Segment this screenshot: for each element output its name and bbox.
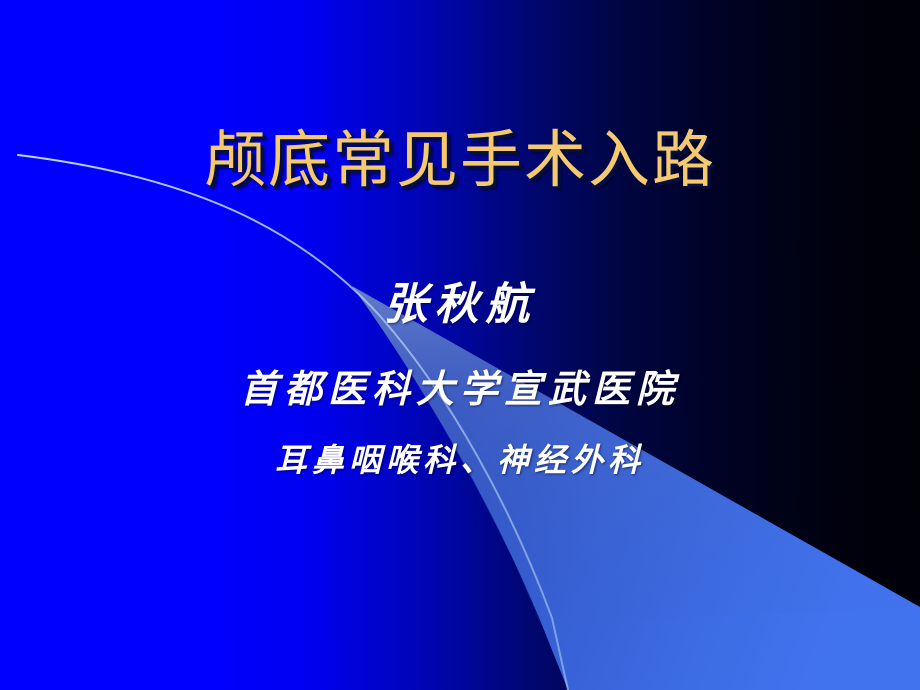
presenter-name: 张秋航 — [0, 276, 920, 334]
slide-text-layer: 颅底常见手术入路 张秋航 首都医科大学宣武医院 耳鼻咽喉科、神经外科 — [0, 0, 920, 690]
institution-name: 首都医科大学宣武医院 — [0, 364, 920, 414]
title-slide: 颅底常见手术入路 张秋航 首都医科大学宣武医院 耳鼻咽喉科、神经外科 — [0, 0, 920, 690]
slide-subtitle-block: 张秋航 首都医科大学宣武医院 耳鼻咽喉科、神经外科 — [0, 276, 920, 482]
slide-title: 颅底常见手术入路 — [0, 124, 920, 196]
department-names: 耳鼻咽喉科、神经外科 — [0, 438, 920, 482]
